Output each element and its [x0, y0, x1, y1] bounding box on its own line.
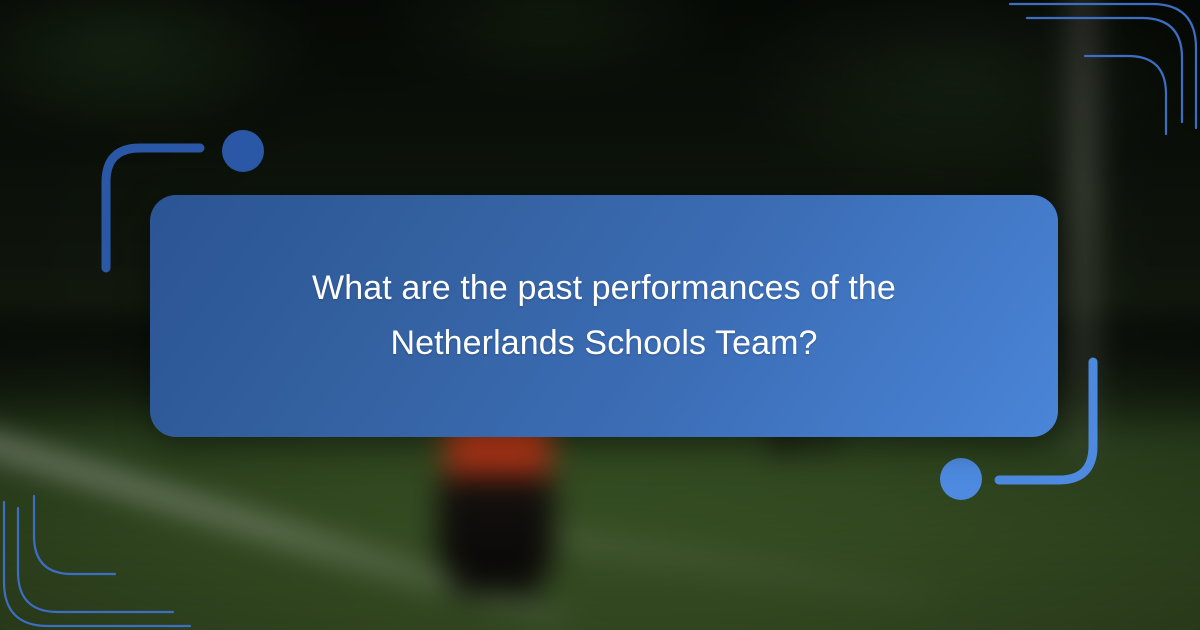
question-card: What are the past performances of the Ne…	[150, 195, 1058, 437]
social-share-card: What are the past performances of the Ne…	[0, 0, 1200, 630]
question-text: What are the past performances of the Ne…	[254, 261, 954, 371]
background-player-legs	[452, 548, 542, 594]
background-light-pole	[1068, 0, 1098, 460]
